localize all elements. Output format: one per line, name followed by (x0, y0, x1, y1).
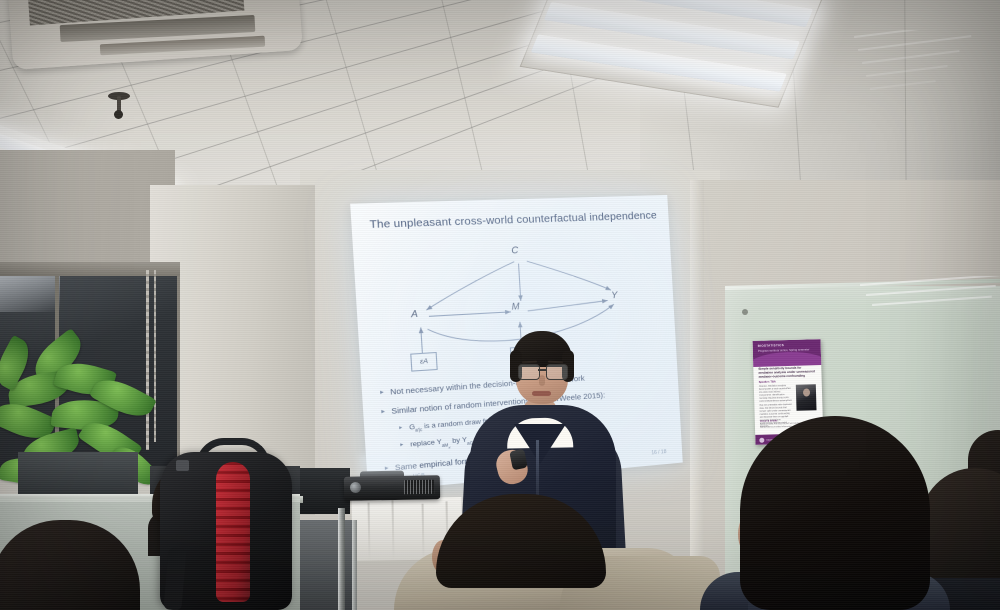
glasses-bridge (538, 369, 546, 371)
window-header (0, 262, 180, 276)
dag-node-Y: Y (611, 290, 618, 300)
dag-node-M: M (511, 301, 520, 312)
presenter-nose (539, 375, 545, 386)
seminar-room-photo: BIOSTATISTICS Program seminar series, Sp… (0, 0, 1000, 610)
whiteboard-peg (742, 309, 748, 315)
backpack-buckle (176, 460, 189, 471)
poster-logo-icon (759, 437, 764, 442)
glasses-lens-left (518, 364, 540, 380)
plant-container (18, 452, 138, 498)
poster-note-heading: Venue & details (760, 419, 778, 422)
wall-corner-edge (690, 180, 704, 610)
chair-post-secondary (352, 520, 357, 610)
presenter-mouth (532, 391, 551, 396)
poster-title: Simple sensitivity bounds for mediation … (758, 365, 816, 379)
window-reflection (0, 272, 60, 312)
audience-right-front-head (740, 416, 930, 610)
dag-node-C: C (511, 245, 518, 256)
projector-vent (404, 480, 434, 495)
glasses-lens-right (546, 364, 568, 380)
poster-speaker: Speaker: TBA (759, 380, 776, 383)
whiteboard-reflections (860, 276, 1000, 336)
sprinkler-bulb (114, 110, 123, 119)
backpack-red-texture (216, 462, 250, 602)
dag-node-epsilon-A: εA (410, 352, 438, 372)
ceiling-light-reflections (850, 30, 1000, 120)
poster-brand: BIOSTATISTICS (758, 343, 784, 348)
chair-post (338, 508, 345, 610)
dag-node-A: A (411, 308, 418, 319)
